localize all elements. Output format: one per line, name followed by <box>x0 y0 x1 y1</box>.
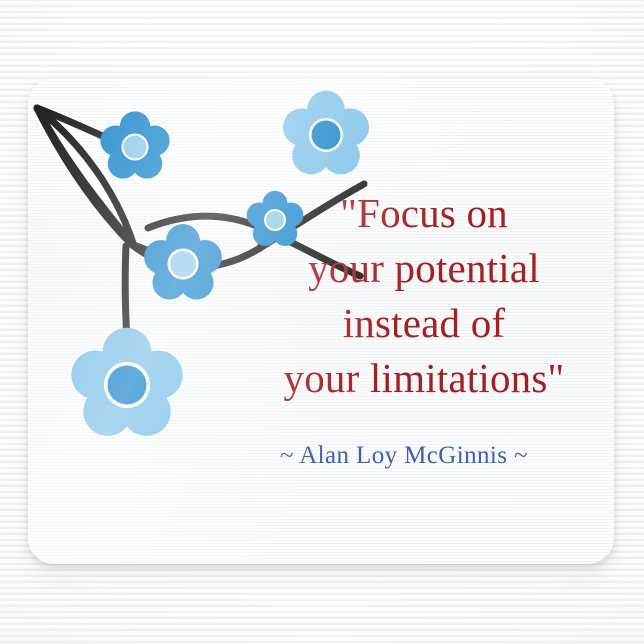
flower-top-left-center <box>124 136 147 159</box>
quote-line-2: your potential <box>254 241 594 296</box>
flower-center-left-center <box>170 251 196 277</box>
flower-top-right-center <box>312 121 341 150</box>
quote-attribution: ~ Alan Loy McGinnis ~ <box>214 442 594 470</box>
quote-line-4: your limitations" <box>254 351 594 406</box>
flower-bottom-large-center <box>108 366 147 405</box>
quote-text-block: "Focus on your potential instead of your… <box>254 186 594 406</box>
quote-line-3: instead of <box>254 296 594 351</box>
product-image-canvas: "Focus on your potential instead of your… <box>0 0 644 644</box>
mousepad-product: "Focus on your potential instead of your… <box>28 78 614 564</box>
quote-line-1: "Focus on <box>254 186 594 241</box>
